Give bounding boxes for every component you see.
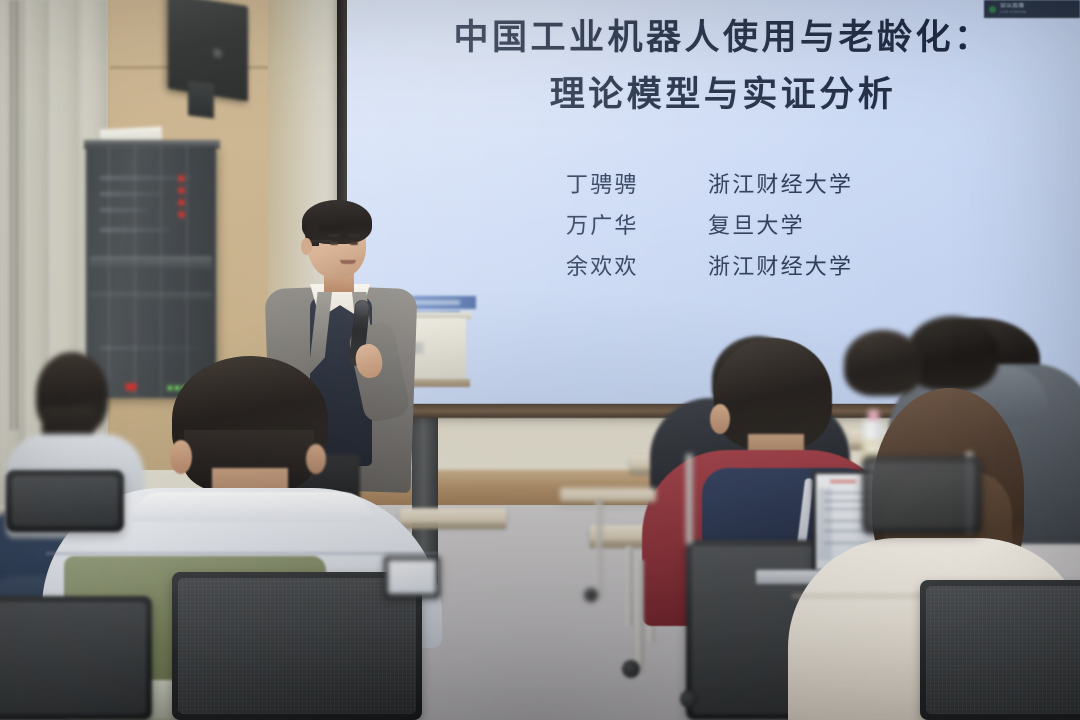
conference-photo-scene: 中国工业机器人使用与老龄化： 理论模型与实证分析 丁骋骋 浙江财经大学 万广华 … <box>0 0 1080 720</box>
office-chair <box>920 580 1080 720</box>
rack-led-red <box>179 212 184 217</box>
rack-bottom-text <box>100 346 200 350</box>
watermark-text-group: 会议直播 LIVE STREAM <box>1000 3 1026 14</box>
presenter-eye <box>350 242 358 245</box>
office-chair <box>6 470 124 532</box>
chair-mesh-back <box>178 578 416 714</box>
laptop-display <box>388 560 436 594</box>
author-row: 丁骋骋 浙江财经大学 <box>508 167 938 199</box>
broadcast-watermark-banner: 会议直播 LIVE STREAM <box>984 0 1080 18</box>
chair-mesh-back <box>12 476 118 526</box>
shirt-collar <box>132 492 372 522</box>
chair-caster <box>680 690 698 708</box>
presenter-brow <box>328 234 340 237</box>
rack-faceplate-text <box>100 228 170 232</box>
author-name: 余欢欢 <box>508 249 708 281</box>
person-hair <box>844 330 922 396</box>
presenter-mouth <box>340 260 356 264</box>
rack-shelf <box>90 292 212 301</box>
author-affiliation: 浙江财经大学 <box>708 249 938 281</box>
shirt-seam <box>46 552 438 555</box>
laptop <box>384 556 440 598</box>
author-affiliation: 浙江财经大学 <box>708 167 938 199</box>
person-ear <box>710 404 730 434</box>
author-row: 余欢欢 浙江财经大学 <box>508 249 938 281</box>
chair-mesh-back <box>868 462 976 528</box>
slide-title-block: 中国工业机器人使用与老龄化： 理论模型与实证分析 <box>353 0 1080 123</box>
presenter-brow <box>348 234 360 237</box>
slide-authors-block: 丁骋骋 浙江财经大学 万广华 复旦大学 余欢欢 浙江财经大学 <box>353 167 1080 281</box>
chair-post <box>596 500 602 596</box>
author-name: 丁骋骋 <box>508 167 708 199</box>
chair-caster <box>622 660 640 678</box>
office-chair <box>862 456 982 534</box>
desk <box>560 488 656 502</box>
chair-post <box>686 454 693 544</box>
rack-led-red <box>179 200 184 205</box>
rack-led-red <box>179 176 184 181</box>
watermark-sublabel: LIVE STREAM <box>1000 10 1026 15</box>
presenter-glasses-arm <box>310 240 332 242</box>
watermark-label: 会议直播 <box>1000 3 1026 10</box>
slide-title-line-1: 中国工业机器人使用与老龄化： <box>353 10 1080 67</box>
author-affiliation: 复旦大学 <box>708 208 938 240</box>
person-ear <box>306 444 326 474</box>
presenter-hair <box>302 200 372 244</box>
watermark-dot-icon <box>989 6 996 13</box>
chair-mesh-back <box>926 586 1080 714</box>
slide-title-line-2: 理论模型与实证分析 <box>353 67 1080 124</box>
office-chair <box>0 596 152 720</box>
rack-faceplate-text <box>100 208 148 212</box>
chair-post <box>636 560 644 672</box>
speaker-mount-bracket <box>188 80 214 118</box>
rack-faceplate-text <box>100 192 162 196</box>
author-name: 万广华 <box>508 208 708 240</box>
author-row: 万广华 复旦大学 <box>508 208 938 240</box>
chair-caster <box>584 588 598 602</box>
rack-shelf <box>90 256 212 270</box>
presenter-eye <box>330 242 338 245</box>
person-ear <box>170 440 192 474</box>
desk-leg <box>626 546 633 626</box>
chair-mesh-back <box>0 602 146 714</box>
rack-led-red <box>179 188 184 193</box>
